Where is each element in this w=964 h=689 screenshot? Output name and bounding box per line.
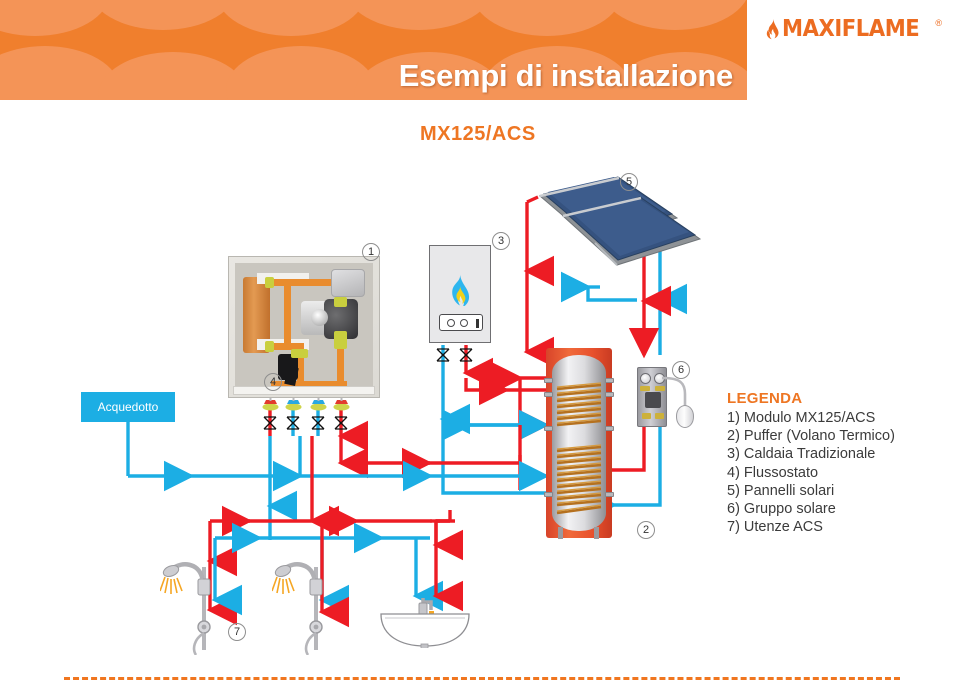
pressure-gauge — [640, 373, 651, 384]
legend-item: 1) Modulo MX125/ACS — [727, 409, 952, 427]
brass-fitting — [640, 386, 650, 391]
legend-item: 6) Gruppo solare — [727, 500, 952, 518]
tank-port — [605, 378, 614, 383]
valve-handle — [333, 398, 350, 411]
legend-item: 3) Caldaia Tradizionale — [727, 445, 952, 463]
shower-fixture — [160, 555, 230, 655]
boiler-dial[interactable] — [460, 319, 468, 327]
callout-1: 1 — [362, 243, 380, 261]
callout-6: 6 — [672, 361, 690, 379]
flame-icon — [449, 274, 471, 306]
pipe-network — [0, 0, 964, 689]
legend-item: 5) Pannelli solari — [727, 482, 952, 500]
brass-fitting — [265, 341, 274, 352]
tank-port — [605, 392, 614, 397]
water-supply-label: Acquedotto — [81, 392, 175, 422]
tank-port — [544, 378, 553, 383]
callout-7: 7 — [228, 623, 246, 641]
puffer-storage-tank — [546, 348, 612, 538]
brass-fitting — [655, 413, 664, 419]
callout-4: 4 — [264, 373, 282, 391]
tank-port — [544, 392, 553, 397]
legend: LEGENDA 1) Modulo MX125/ACS 2) Puffer (V… — [727, 390, 952, 536]
legend-item: 7) Utenze ACS — [727, 518, 952, 536]
brass-fitting — [642, 413, 651, 419]
legend-item: 4) Flussostato — [727, 464, 952, 482]
shower-fixture — [272, 555, 342, 655]
callout-3: 3 — [492, 232, 510, 250]
legend-item: 2) Puffer (Volano Termico) — [727, 427, 952, 445]
callout-5: 5 — [620, 173, 638, 191]
tank-foot — [594, 527, 599, 539]
tank-port — [605, 426, 614, 431]
traditional-boiler — [429, 245, 491, 343]
mx125-module — [228, 256, 380, 398]
installation-diagram-page: Esempi di installazione MAXIFLAME ® MX12… — [0, 0, 964, 689]
module-base-rail — [233, 386, 375, 395]
module-pipe — [284, 279, 291, 349]
boiler-control-panel[interactable] — [439, 314, 483, 331]
expansion-vessel — [676, 405, 694, 428]
footer-divider — [64, 677, 900, 680]
brass-fitting — [265, 277, 274, 288]
brass-fitting — [291, 349, 308, 358]
boiler-dial[interactable] — [447, 319, 455, 327]
solar-circulator — [645, 392, 661, 408]
solar-panels-graphic — [540, 177, 700, 265]
valve-handle — [310, 398, 327, 411]
washbasin-fixture — [379, 594, 471, 648]
valve-handle — [262, 398, 279, 411]
tank-port — [544, 492, 553, 497]
tank-coils — [552, 355, 606, 531]
pump-hub — [311, 309, 328, 326]
boiler-display — [476, 319, 479, 328]
tank-foot — [558, 527, 563, 539]
legend-title: LEGENDA — [727, 390, 952, 407]
brass-fitting — [334, 331, 347, 349]
brass-fitting — [334, 297, 347, 307]
tank-port — [544, 426, 553, 431]
control-box — [331, 269, 365, 297]
valve-handle — [285, 398, 302, 411]
callout-2: 2 — [637, 521, 655, 539]
tank-port — [605, 492, 614, 497]
